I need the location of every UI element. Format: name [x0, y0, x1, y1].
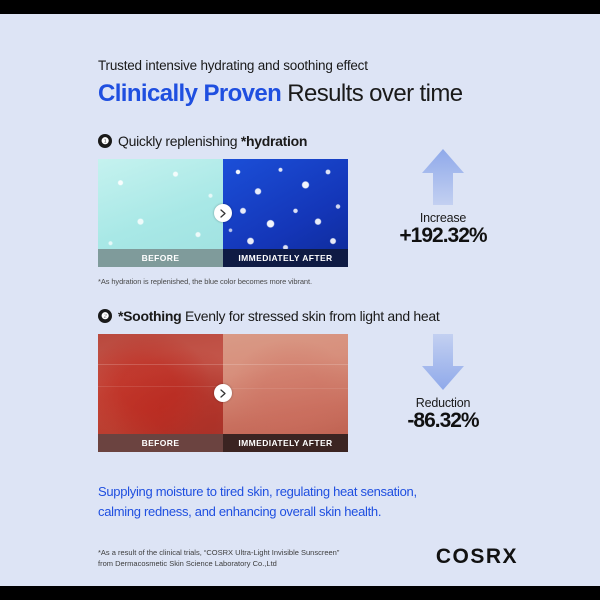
soothing-after-image: IMMEDIATELY AFTER	[223, 334, 348, 452]
hydration-after-caption: IMMEDIATELY AFTER	[223, 249, 348, 267]
soothing-before-image: BEFORE	[98, 334, 223, 452]
section-1-label-bold: *hydration	[241, 133, 307, 149]
soothing-stat-label: Reduction	[388, 396, 498, 410]
soothing-before-caption: BEFORE	[98, 434, 223, 452]
footer-note-line-2: from Dermacosmetic Skin Science Laborato…	[98, 559, 339, 570]
comparison-slider-handle[interactable]	[214, 204, 232, 222]
soothing-after-caption: IMMEDIATELY AFTER	[223, 434, 348, 452]
footer-block: *As a result of the clinical trials, “CO…	[98, 545, 518, 569]
section-hydration: ❶ Quickly replenishing *hydration BEFORE…	[98, 133, 518, 286]
arrow-up-icon	[420, 147, 466, 207]
summary-line-2: calming redness, and enhancing overall s…	[98, 502, 518, 522]
comparison-slider-handle-2[interactable]	[214, 384, 232, 402]
section-2-label-bold: *Soothing	[118, 308, 181, 324]
soothing-stat-value: -86.32%	[388, 409, 498, 433]
header-block: Trusted intensive hydrating and soothing…	[98, 58, 518, 107]
section-2-label-text: *Soothing Evenly for stressed skin from …	[118, 308, 439, 324]
brand-logo: COSRX	[436, 545, 518, 569]
footer-note: *As a result of the clinical trials, “CO…	[98, 548, 339, 570]
hydration-comparison[interactable]: BEFORE IMMEDIATELY AFTER	[98, 159, 348, 267]
section-soothing: ❷ *Soothing Evenly for stressed skin fro…	[98, 308, 518, 452]
hydration-footnote: *As hydration is replenished, the blue c…	[98, 277, 518, 286]
poster-page: Trusted intensive hydrating and soothing…	[0, 14, 600, 586]
section-1-label-plain: Quickly replenishing	[118, 133, 241, 149]
summary-line-1: Supplying moisture to tired skin, regula…	[98, 482, 518, 502]
footer-note-line-1: *As a result of the clinical trials, “CO…	[98, 548, 339, 559]
poster-content: Trusted intensive hydrating and soothing…	[98, 58, 518, 569]
section-1-number: ❶	[98, 134, 112, 148]
section-2-label-plain: Evenly for stressed skin from light and …	[181, 308, 439, 324]
soothing-comparison[interactable]: BEFORE IMMEDIATELY AFTER	[98, 334, 348, 452]
page-title: Clinically Proven Results over time	[98, 81, 518, 107]
section-2-label: ❷ *Soothing Evenly for stressed skin fro…	[98, 308, 518, 324]
headline-strong: Clinically Proven	[98, 80, 281, 107]
hydration-before-image: BEFORE	[98, 159, 223, 267]
chevron-right-icon	[219, 389, 227, 398]
hydration-stat-label: Increase	[388, 211, 498, 225]
headline-rest: Results over time	[281, 80, 462, 107]
soothing-stat: Reduction -86.32%	[388, 332, 498, 433]
hydration-after-image: IMMEDIATELY AFTER	[223, 159, 348, 267]
eyebrow-text: Trusted intensive hydrating and soothing…	[98, 58, 518, 73]
section-2-number: ❷	[98, 309, 112, 323]
summary-text: Supplying moisture to tired skin, regula…	[98, 482, 518, 521]
chevron-right-icon	[219, 209, 227, 218]
hydration-stat-value: +192.32%	[388, 224, 498, 248]
hydration-stat: Increase +192.32%	[388, 147, 498, 248]
arrow-down-icon	[420, 332, 466, 392]
hydration-before-caption: BEFORE	[98, 249, 223, 267]
section-1-label-text: Quickly replenishing *hydration	[118, 133, 307, 149]
